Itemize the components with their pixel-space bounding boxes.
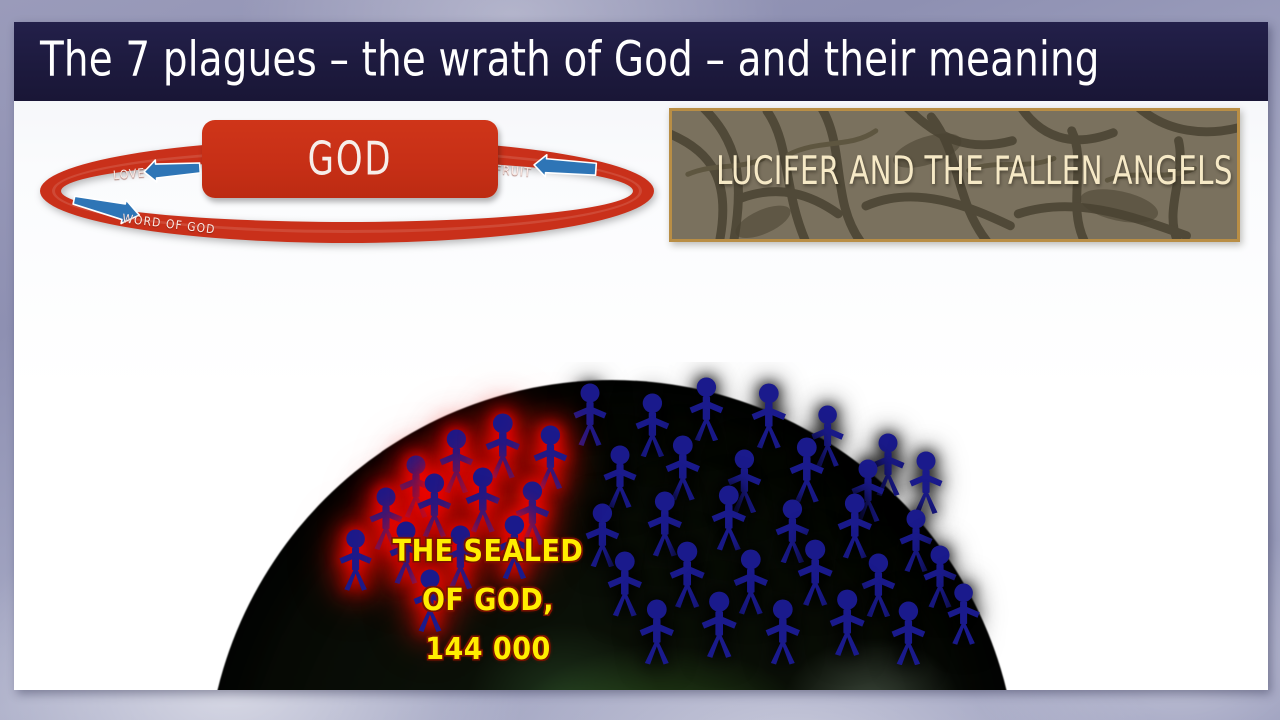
fruit-arrow-icon [530, 156, 598, 178]
desktop-backdrop: The 7 plagues – the wrath of God – and t… [0, 0, 1280, 720]
presentation-slide: The 7 plagues – the wrath of God – and t… [14, 22, 1268, 690]
god-cycle-diagram: LOVE FRUIT WORD OF GOD GOD [30, 118, 670, 253]
slide-title-bar: The 7 plagues – the wrath of God – and t… [14, 22, 1268, 101]
stick-figure [336, 528, 375, 591]
stick-figure [494, 514, 535, 579]
stick-figure-icon [494, 514, 535, 579]
stick-figure-icon [336, 528, 375, 591]
lucifer-banner-text: LUCIFER AND THE FALLEN ANGELS [716, 149, 1233, 194]
god-center-label: GOD [308, 132, 393, 186]
page-title: The 7 plagues – the wrath of God – and t… [40, 31, 1100, 87]
earth-with-crowd [200, 362, 1040, 690]
love-arrow-icon [140, 159, 202, 181]
sealed-crowd-group [200, 362, 1040, 690]
ring-label-love: LOVE [112, 166, 146, 183]
god-center-box: GOD [202, 120, 498, 198]
stick-figure [410, 568, 450, 632]
lucifer-banner: LUCIFER AND THE FALLEN ANGELS [669, 108, 1240, 242]
stick-figure-icon [410, 568, 450, 632]
